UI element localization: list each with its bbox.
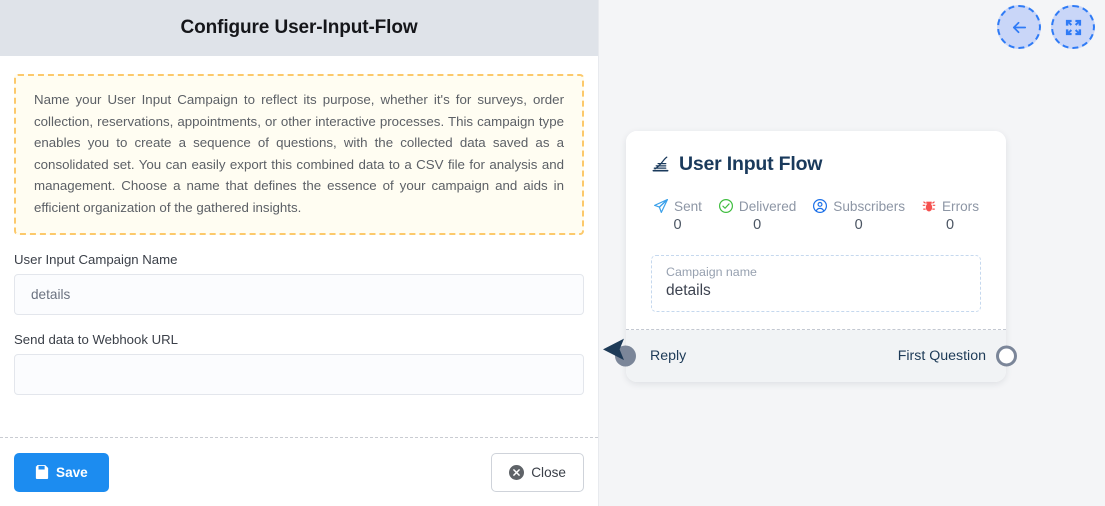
stat-subscribers-label: Subscribers [833, 199, 905, 214]
campaign-name-input[interactable]: details [14, 274, 584, 315]
stat-subscribers-head: Subscribers [812, 198, 905, 214]
info-callout-text: Name your User Input Campaign to reflect… [34, 89, 564, 218]
stat-sent-value: 0 [673, 217, 681, 233]
canvas-controls [997, 5, 1095, 49]
save-floppy-icon [35, 465, 49, 479]
campaign-name-display-value: details [666, 282, 966, 300]
flow-node-card[interactable]: User Input Flow Sent [626, 131, 1006, 382]
stat-errors: Errors 0 [921, 198, 979, 233]
flow-node-stats: Sent 0 Delivered [651, 198, 981, 233]
flow-node-title-row: User Input Flow [651, 153, 981, 176]
stat-delivered-head: Delivered [718, 198, 796, 214]
campaign-name-display-label: Campaign name [666, 265, 966, 279]
modal-header: Configure User-Input-Flow [0, 0, 598, 56]
paper-plane-icon [653, 198, 669, 214]
fit-view-button[interactable] [1051, 5, 1095, 49]
page-title: Configure User-Input-Flow [180, 17, 417, 39]
stat-sent-label: Sent [674, 199, 702, 214]
compress-arrows-icon [1064, 18, 1083, 37]
output-handle-first-question[interactable] [996, 346, 1017, 367]
stat-sent-head: Sent [653, 198, 702, 214]
campaign-name-label: User Input Campaign Name [14, 252, 584, 267]
signature-icon [651, 155, 670, 174]
save-button[interactable]: Save [14, 453, 109, 492]
stat-subscribers-value: 0 [855, 217, 863, 233]
check-circle-icon [718, 198, 734, 214]
save-button-label: Save [56, 465, 88, 480]
input-handle-label: Reply [650, 348, 686, 364]
stat-errors-head: Errors [921, 198, 979, 214]
webhook-url-input[interactable] [14, 354, 584, 395]
modal-footer: Save Close [0, 438, 598, 506]
app-root: Configure User-Input-Flow Name your User… [0, 0, 1105, 506]
user-circle-icon [812, 198, 828, 214]
close-button[interactable]: Close [491, 453, 584, 492]
flow-canvas[interactable]: User Input Flow Sent [598, 0, 1105, 506]
output-handle-label: First Question [898, 348, 986, 364]
bug-icon [921, 198, 937, 214]
flow-node-title: User Input Flow [679, 153, 822, 176]
configure-modal: Configure User-Input-Flow Name your User… [0, 0, 598, 506]
flow-node-body: User Input Flow Sent [626, 131, 1006, 329]
input-handle-reply[interactable] [615, 346, 636, 367]
webhook-url-label: Send data to Webhook URL [14, 332, 584, 347]
webhook-url-field-group: Send data to Webhook URL [14, 332, 584, 395]
campaign-name-display[interactable]: Campaign name details [651, 255, 981, 312]
close-button-label: Close [531, 465, 566, 480]
stat-delivered-value: 0 [753, 217, 761, 233]
back-button[interactable] [997, 5, 1041, 49]
circle-x-icon [509, 465, 524, 480]
stat-sent: Sent 0 [653, 198, 702, 233]
flow-node-footer: Reply First Question [626, 330, 1006, 382]
stat-subscribers: Subscribers 0 [812, 198, 905, 233]
campaign-name-field-group: User Input Campaign Name details [14, 252, 584, 315]
modal-body: Name your User Input Campaign to reflect… [0, 56, 598, 438]
arrow-left-icon [1010, 18, 1029, 37]
stat-delivered-label: Delivered [739, 199, 796, 214]
info-callout: Name your User Input Campaign to reflect… [14, 74, 584, 235]
stat-errors-value: 0 [946, 217, 954, 233]
stat-delivered: Delivered 0 [718, 198, 796, 233]
stat-errors-label: Errors [942, 199, 979, 214]
